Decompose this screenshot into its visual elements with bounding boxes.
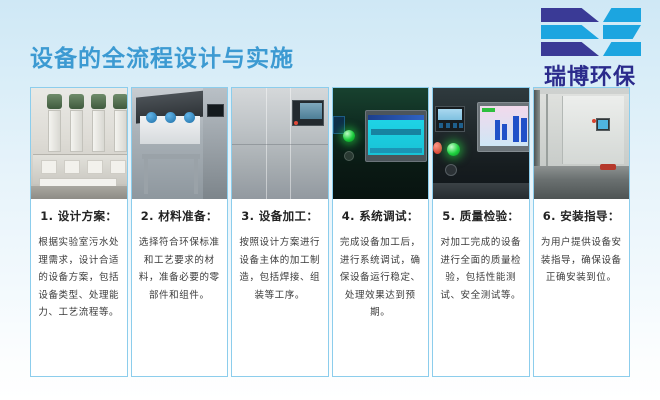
process-step-card[interactable]: 6. 安装指导： 为用户提供设备安装指导，确保设备正确安装到位。 [533,87,631,377]
card-description: 完成设备加工后，进行系统调试，确保设备运行稳定、处理效果达到预期。 [339,234,423,322]
card-body: 3. 设备加工： 按照设计方案进行设备主体的加工制造，包括焊接、组装等工序。 [232,199,328,376]
page-title: 设备的全流程设计与实施 [30,39,294,73]
card-photo-installation-guidance [534,88,630,199]
card-description: 根据实验室污水处理需求，设计合适的设备方案，包括设备类型、处理能力、工艺流程等。 [37,234,121,322]
card-photo-material-preparation [132,88,228,199]
logo-shape-dark-3 [541,42,599,56]
process-step-card-list: 1. 设计方案： 根据实验室污水处理需求，设计合适的设备方案，包括设备类型、处理… [30,87,630,377]
card-heading: 6. 安装指导： [540,208,624,224]
logo-row-3 [541,42,641,56]
logo-shape-cyan-2 [541,25,599,39]
process-step-card[interactable]: 4. 系统调试： 完成设备加工后，进行系统调试，确保设备运行稳定、处理效果达到预… [332,87,430,377]
card-photo-equipment-machining [232,88,328,199]
card-body: 2. 材料准备： 选择符合环保标准和工艺要求的材料，准备必要的零部件和组件。 [132,199,228,376]
logo-row-2 [541,25,641,39]
card-heading: 1. 设计方案： [37,208,121,224]
card-description: 按照设计方案进行设备主体的加工制造，包括焊接、组装等工序。 [238,234,322,304]
card-body: 1. 设计方案： 根据实验室污水处理需求，设计合适的设备方案，包括设备类型、处理… [31,199,127,376]
card-description: 对加工完成的设备进行全面的质量检验，包括性能测试、安全测试等。 [439,234,523,304]
card-description: 选择符合环保标准和工艺要求的材料，准备必要的零部件和组件。 [138,234,222,304]
card-body: 5. 质量检验： 对加工完成的设备进行全面的质量检验，包括性能测试、安全测试等。 [433,199,529,376]
process-step-card[interactable]: 2. 材料准备： 选择符合环保标准和工艺要求的材料，准备必要的零部件和组件。 [131,87,229,377]
page-header: 设备的全流程设计与实施 瑞博环保 [0,0,660,88]
process-step-card[interactable]: 5. 质量检验： 对加工完成的设备进行全面的质量检验，包括性能测试、安全测试等。 [432,87,530,377]
logo-shape-cyan-1 [603,8,641,22]
logo-shape-cyan-3 [603,42,641,56]
card-photo-quality-inspection [433,88,529,199]
logo-mark-icon [541,6,641,58]
card-body: 4. 系统调试： 完成设备加工后，进行系统调试，确保设备运行稳定、处理效果达到预… [333,199,429,376]
logo-shape-dark-1 [541,8,599,22]
process-step-card[interactable]: 1. 设计方案： 根据实验室污水处理需求，设计合适的设备方案，包括设备类型、处理… [30,87,128,377]
card-heading: 2. 材料准备： [138,208,222,224]
brand-logo: 瑞博环保 [527,6,653,88]
card-heading: 4. 系统调试： [339,208,423,224]
process-step-card[interactable]: 3. 设备加工： 按照设计方案进行设备主体的加工制造，包括焊接、组装等工序。 [231,87,329,377]
card-description: 为用户提供设备安装指导，确保设备正确安装到位。 [540,234,624,287]
card-heading: 5. 质量检验： [439,208,523,224]
card-heading: 3. 设备加工： [238,208,322,224]
logo-shape-cyan-2b [603,25,641,39]
card-photo-system-commissioning [333,88,429,199]
card-body: 6. 安装指导： 为用户提供设备安装指导，确保设备正确安装到位。 [534,199,630,376]
logo-row-1 [541,8,641,22]
card-photo-design-scheme [31,88,127,199]
